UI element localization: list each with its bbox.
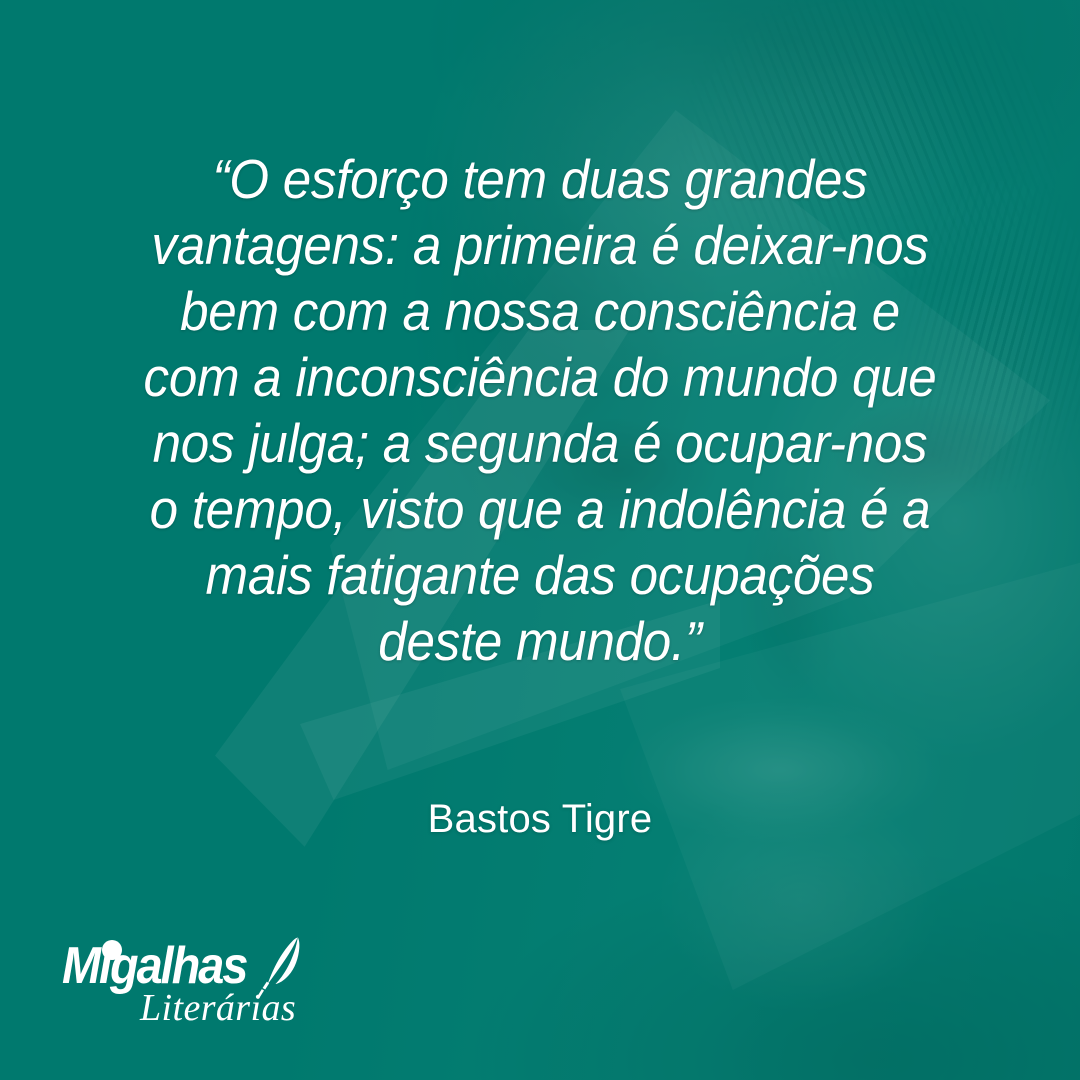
logo-subtitle: Literárias	[140, 986, 296, 1030]
quote-text: “O esforço tem duas grandes vantagens: a…	[94, 146, 987, 674]
migalhas-literarias-logo[interactable]: Migalhas Literárias	[62, 940, 312, 1032]
logo-i-dot	[102, 940, 122, 960]
card-content: “O esforço tem duas grandes vantagens: a…	[0, 0, 1080, 1080]
quote-author: Bastos Tigre	[60, 795, 1020, 843]
quote-card: “O esforço tem duas grandes vantagens: a…	[0, 0, 1080, 1080]
